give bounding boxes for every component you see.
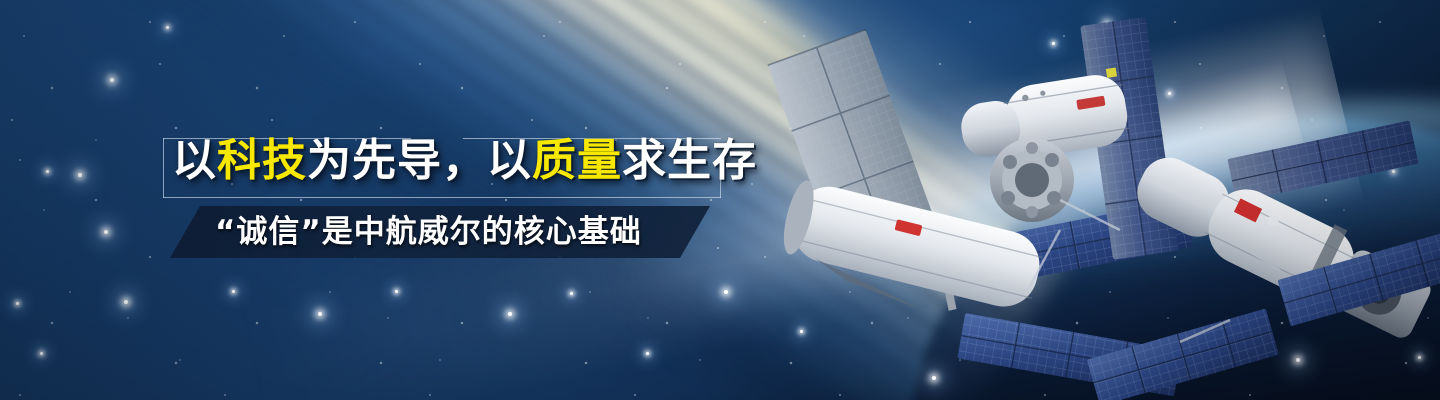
hero-banner: 以科技为先导，以质量求生存 “诚信”是中航威尔的核心基础	[0, 0, 1440, 400]
headline-part-three: 求生存	[622, 135, 757, 186]
frame-left-line	[163, 138, 164, 198]
headline-highlight-zhiliang: 质量	[532, 135, 622, 186]
chinese-space-station	[760, 0, 1440, 400]
headline-part-one: 以	[172, 135, 217, 186]
banner-copy: 以科技为先导，以质量求生存 “诚信”是中航威尔的核心基础	[163, 138, 721, 198]
frame-bottom-line	[163, 197, 721, 198]
headline-frame: 以科技为先导，以质量求生存	[163, 138, 721, 198]
banner-subtitle: “诚信”是中航威尔的核心基础	[215, 206, 685, 258]
headline-highlight-keji: 科技	[217, 135, 307, 186]
banner-headline: 以科技为先导，以质量求生存	[172, 131, 757, 191]
headline-part-two: 为先导，以	[307, 135, 532, 186]
